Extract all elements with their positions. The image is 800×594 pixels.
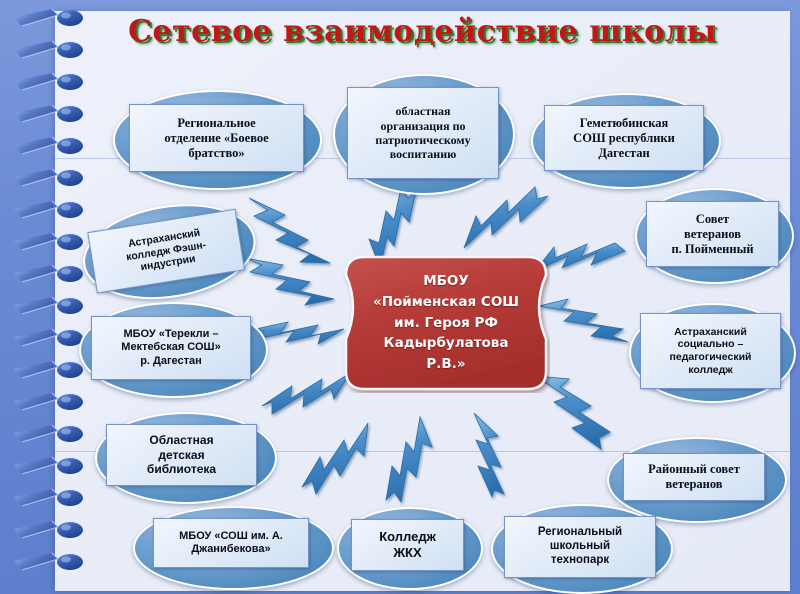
node-label: МБОУ «СОШ им. А. Джанибекова» bbox=[153, 518, 309, 568]
label-line: Региональное bbox=[177, 116, 255, 131]
arrow-bottom-right bbox=[474, 413, 504, 497]
node-label: МБОУ «Терекли – Мектебская СОШ» р. Дагес… bbox=[91, 316, 251, 380]
node-mbou-sosh-im-a-dzhanibekova[interactable]: МБОУ «СОШ им. А. Джанибекова» bbox=[133, 506, 330, 586]
label-line: Областная bbox=[149, 433, 213, 447]
label-line: р. Дагестан bbox=[140, 355, 202, 368]
arrow-right-mid bbox=[539, 299, 628, 342]
node-label: Региональное отделение «Боевое братство» bbox=[129, 104, 304, 172]
label-line: Дагестан bbox=[598, 146, 649, 161]
label-line: Мектебская СОШ» bbox=[121, 341, 220, 354]
node-oblastnaya-organizaciya-po-patrioticheskomu-vospitaniyu[interactable]: областная организация по патриотическому… bbox=[333, 74, 511, 191]
label-line: МБОУ «СОШ им. А. bbox=[179, 530, 283, 543]
label-line: ветеранов bbox=[665, 477, 722, 492]
node-label: Районный совет ветеранов bbox=[623, 453, 765, 501]
central-organization-node[interactable]: МБОУ «Пойменская СОШ им. Героя РФ Кадырб… bbox=[342, 253, 550, 393]
node-kolledzh-zhkh[interactable]: Колледж ЖКХ bbox=[337, 507, 479, 586]
label-line: технопарк bbox=[551, 554, 609, 568]
label-line: колледж bbox=[688, 364, 732, 377]
node-label: Колледж ЖКХ bbox=[351, 519, 464, 571]
label-line: школьный bbox=[550, 540, 610, 554]
label-line: Региональный bbox=[538, 526, 622, 540]
label-line: братство» bbox=[188, 146, 244, 161]
label-line: библиотека bbox=[147, 462, 216, 476]
node-astrahanskiy-socialno-pedagogicheskiy-kolledzh[interactable]: Астраханский социально – педагогический … bbox=[629, 303, 792, 399]
label-line: Колледж bbox=[379, 529, 436, 545]
plaque-line: Р.В.» bbox=[426, 354, 465, 375]
presentation-slide: Сетевое взаимодействие школы bbox=[0, 0, 800, 594]
label-line: социально – bbox=[678, 338, 744, 351]
node-regionalnoe-otdelenie-boevoe-bratstvo[interactable]: Региональное отделение «Боевое братство» bbox=[113, 90, 318, 186]
arrow-top-left-1 bbox=[249, 198, 330, 263]
label-line: организация по bbox=[380, 119, 465, 133]
arrow-left-upper-2 bbox=[245, 258, 334, 305]
label-line: отделение «Боевое bbox=[164, 131, 268, 146]
label-line: Районный совет bbox=[648, 462, 740, 477]
arrow-bottom-center bbox=[386, 417, 432, 502]
label-line: ветеранов bbox=[684, 227, 741, 242]
arrow-left-lower bbox=[262, 373, 350, 414]
label-line: воспитанию bbox=[390, 147, 457, 161]
label-line: Джанибекова» bbox=[191, 543, 270, 556]
plaque-line: Кадырбулатова bbox=[384, 333, 509, 354]
label-line: п. Пойменный bbox=[671, 242, 753, 257]
node-label: Областная детская библиотека bbox=[106, 424, 257, 486]
node-label: Совет ветеранов п. Пойменный bbox=[646, 201, 779, 267]
plaque-line: «Пойменская СОШ bbox=[373, 292, 519, 313]
node-label: Астраханский социально – педагогический … bbox=[640, 313, 781, 389]
label-line: МБОУ «Терекли – bbox=[123, 328, 218, 341]
arrow-bottom-left bbox=[302, 423, 368, 494]
node-label: Геметюбинская СОШ республики Дагестан bbox=[544, 105, 704, 171]
label-line: педагогический bbox=[670, 351, 752, 364]
label-line: ЖКХ bbox=[393, 545, 421, 561]
plaque-line: МБОУ bbox=[423, 271, 469, 292]
node-sovet-veteranov-p-poymennyy[interactable]: Совет ветеранов п. Пойменный bbox=[635, 188, 790, 280]
label-line: Геметюбинская bbox=[580, 116, 669, 131]
node-regionalnyy-shkolnyy-tehnopark[interactable]: Региональный школьный технопарк bbox=[491, 504, 669, 590]
node-mbou-terekli-mektebskaya-sosh-r-dagestan[interactable]: МБОУ «Терекли – Мектебская СОШ» р. Дагес… bbox=[79, 302, 264, 394]
central-organization-text: МБОУ «Пойменская СОШ им. Героя РФ Кадырб… bbox=[342, 253, 550, 393]
node-label: областная организация по патриотическому… bbox=[347, 87, 499, 179]
node-gemetyubinskaya-sosh-respubliki-dagestan[interactable]: Геметюбинская СОШ республики Дагестан bbox=[531, 93, 717, 185]
node-oblastnaya-detskaya-biblioteka[interactable]: Областная детская библиотека bbox=[95, 412, 273, 500]
label-line: детская bbox=[158, 448, 204, 462]
plaque-line: им. Героя РФ bbox=[394, 313, 498, 334]
node-label: Региональный школьный технопарк bbox=[504, 516, 656, 578]
label-line: областная bbox=[395, 104, 450, 118]
label-line: Астраханский bbox=[674, 326, 747, 339]
arrow-top-right bbox=[464, 187, 548, 248]
label-line: СОШ республики bbox=[573, 131, 675, 146]
label-line: Совет bbox=[696, 212, 729, 227]
label-line: патриотическому bbox=[375, 133, 470, 147]
